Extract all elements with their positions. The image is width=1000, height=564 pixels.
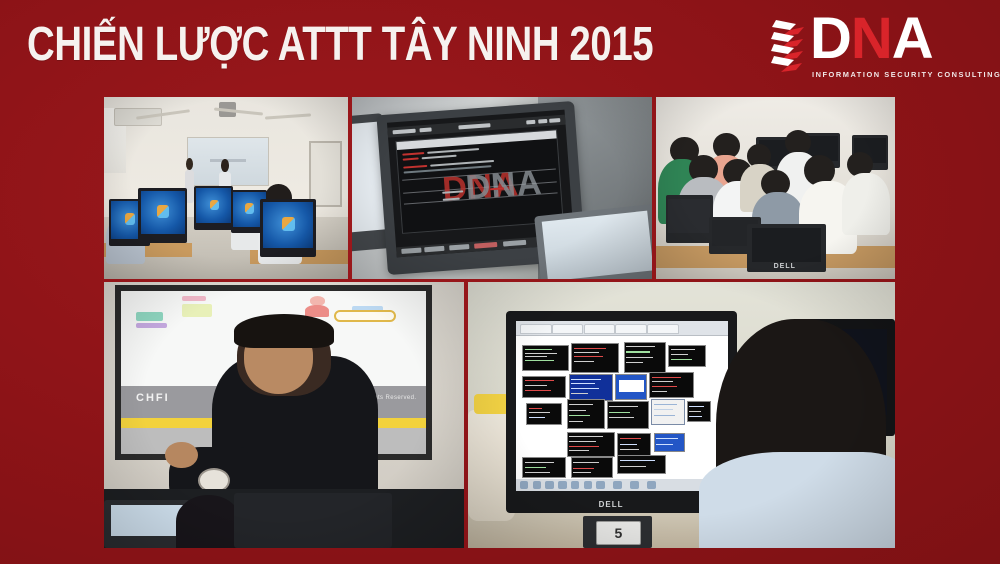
- logo-wordmark: DNA: [810, 10, 933, 68]
- logo-letter-d: D: [810, 6, 851, 71]
- logo-letter-a: A: [892, 6, 933, 71]
- slide-avatar-icon: [304, 296, 331, 317]
- banner-header: CHIẾN LƯỢC ATTT TÂY NINH 2015 DNA INFORM…: [0, 0, 1000, 97]
- slide-bubble: [334, 310, 396, 323]
- slide-background: CHIẾN LƯỢC ATTT TÂY NINH 2015 DNA INFORM…: [0, 0, 1000, 564]
- photo-screen-review: DELL 5: [468, 282, 895, 548]
- page-title: CHIẾN LƯỢC ATTT TÂY NINH 2015: [27, 17, 653, 73]
- photo-terminal-monitor: DNA DNA: [352, 97, 652, 279]
- logo-tagline: INFORMATION SECURITY CONSULTING: [812, 70, 984, 79]
- dna-logo[interactable]: DNA INFORMATION SECURITY CONSULTING: [770, 16, 985, 88]
- dell-brand-label: DELL: [599, 500, 624, 509]
- logo-letter-n: N: [851, 6, 892, 71]
- photo-computer-lab: [104, 97, 348, 279]
- monitor-number-label: 5: [596, 521, 641, 544]
- dell-brand-label: DELL: [774, 263, 796, 270]
- photo-presenter: CHFI All Rights Reserved.: [104, 282, 464, 548]
- browser-toolbar: [516, 321, 728, 336]
- photo-collage: DNA DNA: [104, 97, 895, 548]
- slide-brand-label: CHFI: [136, 392, 170, 404]
- photo-group-training: DELL: [656, 97, 895, 279]
- dna-helix-icon: [770, 18, 810, 76]
